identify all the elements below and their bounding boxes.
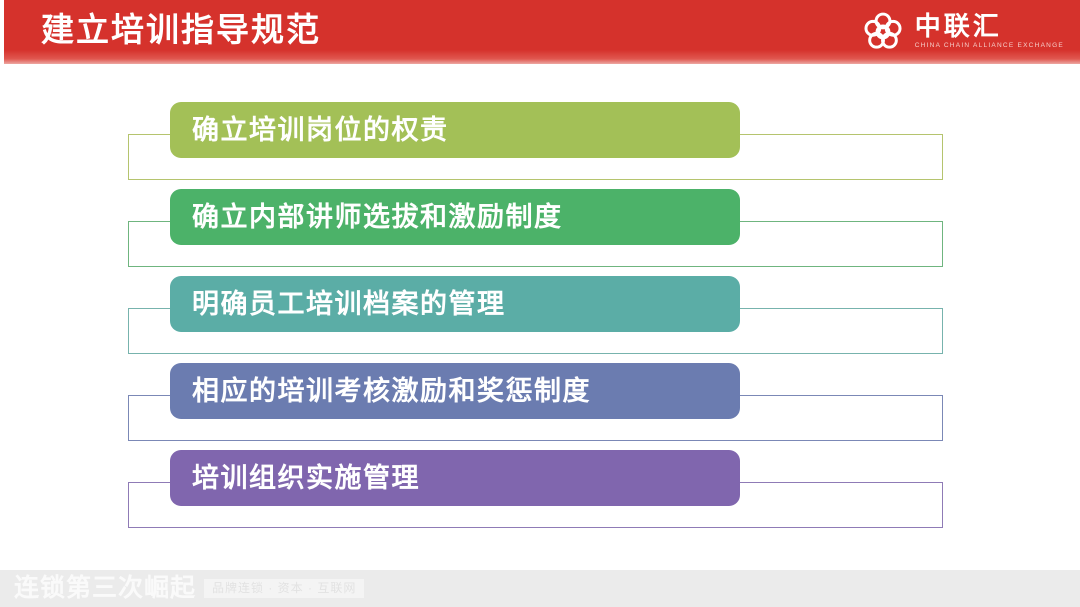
row-label: 培训组织实施管理 [192, 461, 420, 495]
row-bar[interactable]: 明确员工培训档案的管理 [170, 276, 740, 332]
row-label: 相应的培训考核激励和奖惩制度 [192, 374, 591, 408]
content-row: 确立培训岗位的权责 [0, 94, 1080, 182]
row-label: 确立培训岗位的权责 [192, 113, 449, 147]
logo-name: 中联汇 [915, 13, 1064, 41]
row-label: 明确员工培训档案的管理 [192, 287, 506, 321]
footer-watermark: 连锁第三次崛起 品牌连锁 · 资本 · 互联网 [0, 570, 1080, 607]
logo-text-block: 中联汇 CHINA CHAIN ALLIANCE EXCHANGE [915, 10, 1064, 54]
content-rows: 确立培训岗位的权责 确立内部讲师选拔和激励制度 明确员工培训档案的管理 相应的培… [0, 64, 1080, 564]
content-row: 明确员工培训档案的管理 [0, 268, 1080, 356]
row-bar[interactable]: 相应的培训考核激励和奖惩制度 [170, 363, 740, 419]
row-label: 确立内部讲师选拔和激励制度 [192, 200, 563, 234]
footer-brand: 连锁第三次崛起 [14, 574, 196, 604]
header-inner: 建立培训指导规范 中联汇 CHINA CHAIN ALLIANCE EXCHAN… [4, 0, 1080, 64]
row-bar[interactable]: 确立内部讲师选拔和激励制度 [170, 189, 740, 245]
content-row: 相应的培训考核激励和奖惩制度 [0, 355, 1080, 443]
footer-tag: 品牌连锁 · 资本 · 互联网 [204, 579, 364, 598]
content-row: 培训组织实施管理 [0, 442, 1080, 530]
content-row: 确立内部讲师选拔和激励制度 [0, 181, 1080, 269]
logo-subtitle: CHINA CHAIN ALLIANCE EXCHANGE [915, 41, 1064, 51]
page-title: 建立培训指导规范 [41, 9, 321, 53]
row-bar[interactable]: 确立培训岗位的权责 [170, 102, 740, 158]
chain-knot-logo-icon [860, 9, 906, 55]
presentation-slide: 建立培训指导规范 中联汇 CHINA CHAIN ALLIANCE EXCHAN… [0, 0, 1080, 607]
slide-header: 建立培训指导规范 中联汇 CHINA CHAIN ALLIANCE EXCHAN… [4, 0, 1080, 64]
row-bar[interactable]: 培训组织实施管理 [170, 450, 740, 506]
brand-logo: 中联汇 CHINA CHAIN ALLIANCE EXCHANGE [860, 8, 1064, 56]
